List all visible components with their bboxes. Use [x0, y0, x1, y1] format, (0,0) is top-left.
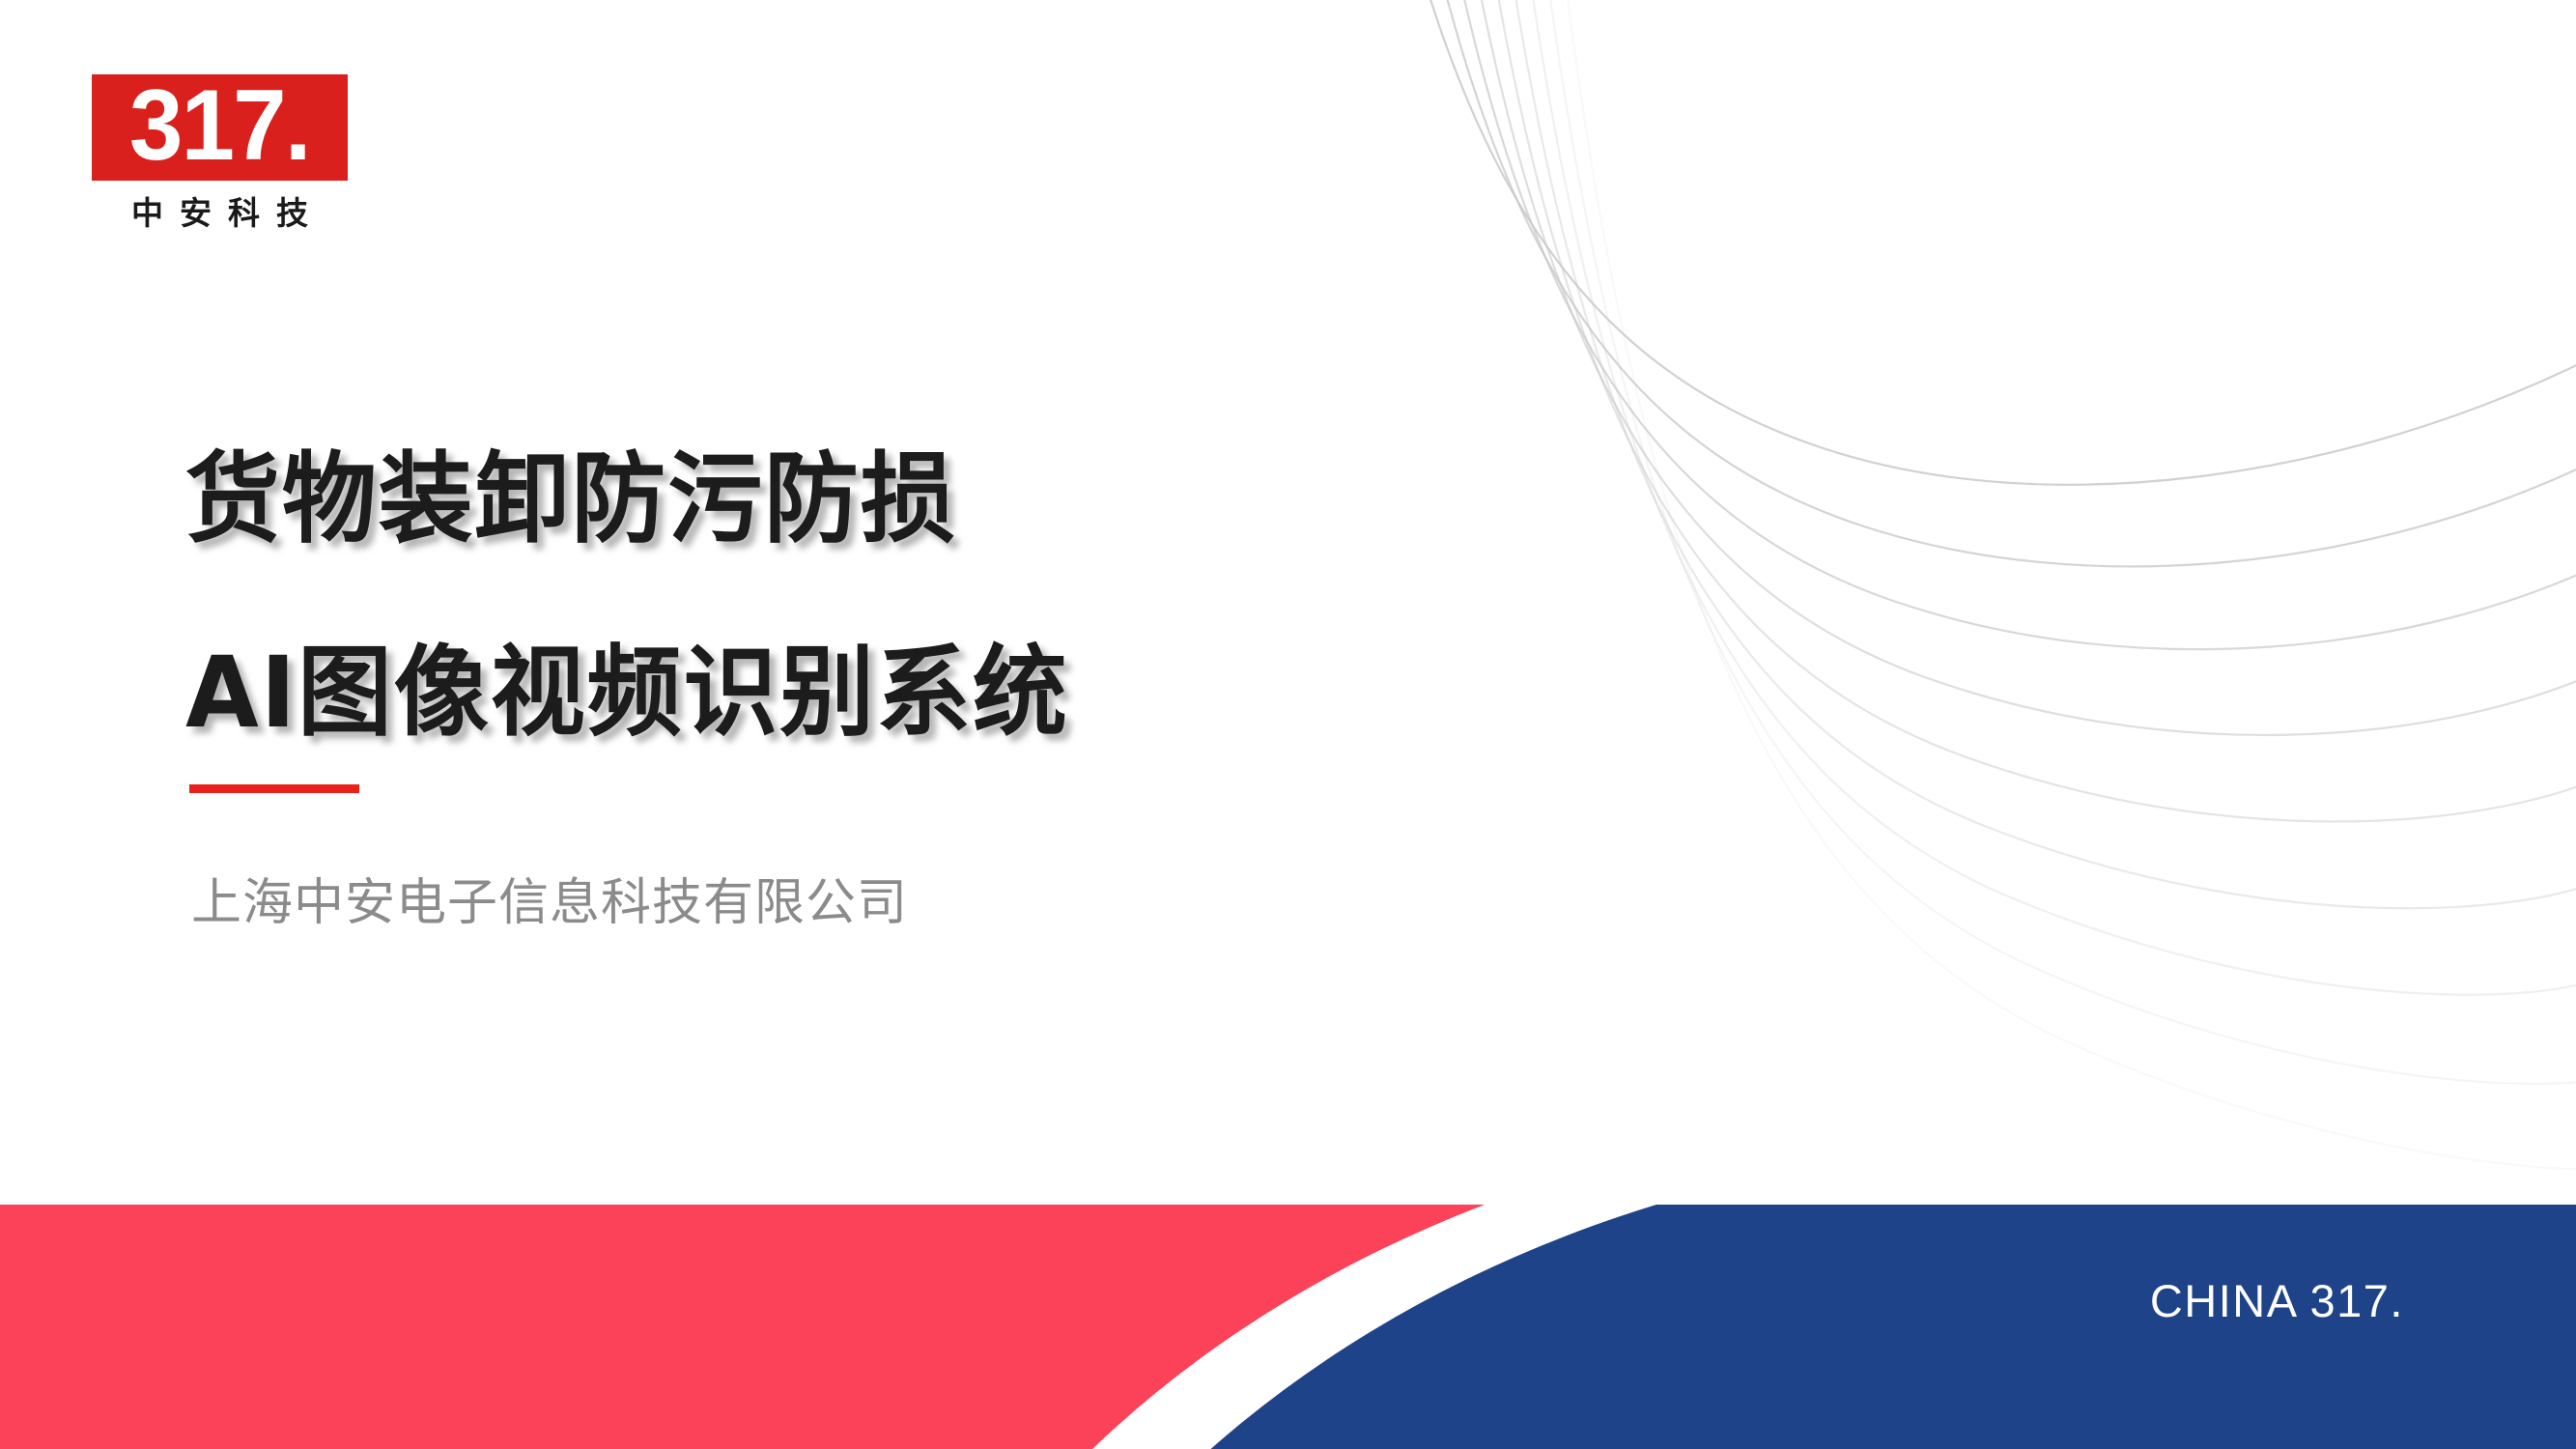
- company-logo: 317. 中安科技: [92, 74, 353, 231]
- title-slide: 317. 中安科技 货物装卸防污防损 AI图像视频识别系统 上海中安电子信息科技…: [0, 0, 2576, 1449]
- page-title-line-2: AI图像视频识别系统: [185, 597, 1391, 790]
- logo-badge-text: 317.: [129, 75, 310, 176]
- page-title: 货物装卸防污防损 AI图像视频识别系统: [185, 404, 1441, 790]
- footer-brand-label: CHINA 317.: [2150, 1276, 2404, 1326]
- page-title-line-1: 货物装卸防污防损: [185, 404, 1391, 597]
- footer-band: CHINA 317.: [0, 1205, 2576, 1449]
- logo-subtext: 中安科技: [92, 196, 348, 231]
- title-divider: [189, 784, 359, 793]
- company-name-subtitle: 上海中安电子信息科技有限公司: [191, 871, 908, 935]
- logo-badge: 317.: [92, 74, 348, 181]
